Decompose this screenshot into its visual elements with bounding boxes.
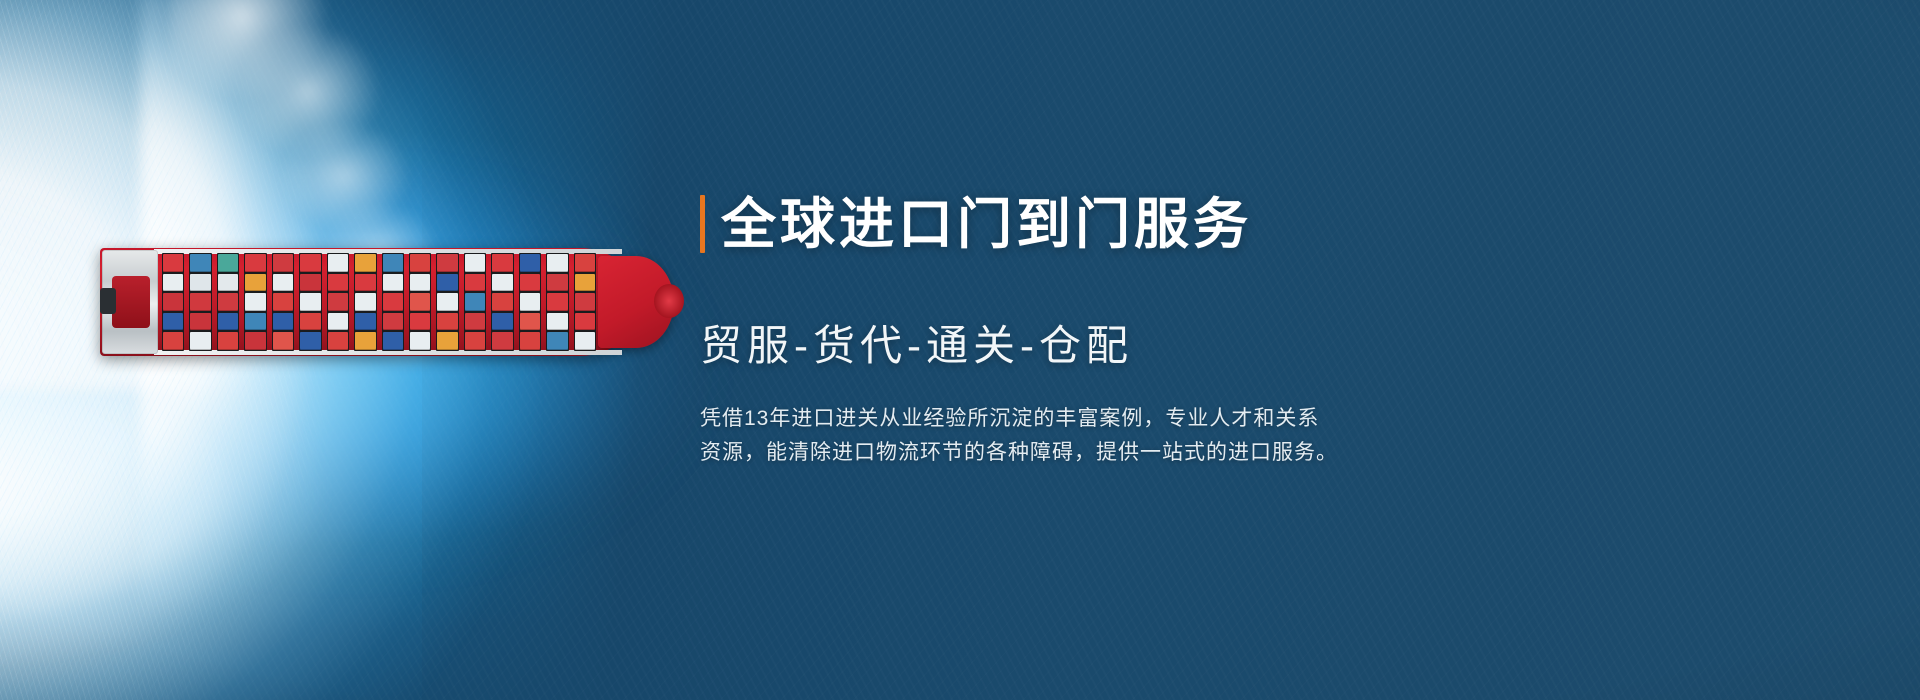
- hero-banner: 全球进口门到门服务 贸服-货代-通关-仓配 凭借13年进口进关从业经验所沉淀的丰…: [0, 0, 1920, 700]
- page-subtitle: 贸服-货代-通关-仓配: [700, 325, 1460, 367]
- description-line-1: 凭借13年进口进关从业经验所沉淀的丰富案例，专业人才和关系: [700, 402, 1406, 436]
- banner-content: 全球进口门到门服务 贸服-货代-通关-仓配 凭借13年进口进关从业经验所沉淀的丰…: [700, 160, 1460, 470]
- description-line-2: 资源，能清除进口物流环节的各种障碍，提供一站式的进口服务。: [700, 436, 1406, 470]
- accent-bar-icon: [700, 195, 705, 253]
- banner-description: 凭借13年进口进关从业经验所沉淀的丰富案例，专业人才和关系 资源，能清除进口物流…: [700, 402, 1406, 470]
- page-title: 全球进口门到门服务: [721, 197, 1252, 252]
- headline-row: 全球进口门到门服务: [700, 160, 1460, 289]
